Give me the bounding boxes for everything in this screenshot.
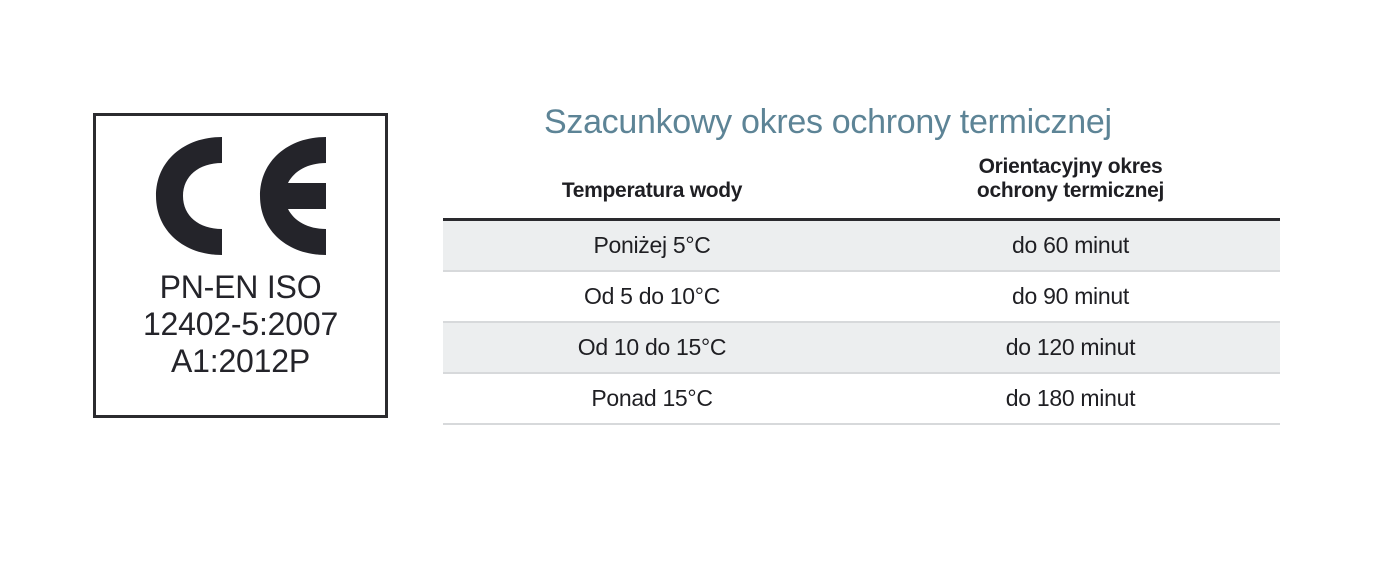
column-header-protection-period: Orientacyjny okres ochrony termicznej <box>861 149 1280 219</box>
ce-standard-reference: PN-EN ISO 12402-5:2007 A1:2012P <box>143 269 338 380</box>
cell-protection-period: do 60 minut <box>861 219 1280 271</box>
table-header-row: Temperatura wody Orientacyjny okres ochr… <box>443 149 1280 219</box>
ce-mark-icon <box>150 137 332 255</box>
table-row: Od 10 do 15°C do 120 minut <box>443 322 1280 373</box>
ce-standard-line-3: A1:2012P <box>143 343 338 380</box>
cell-water-temperature: Poniżej 5°C <box>443 219 861 271</box>
table-row: Od 5 do 10°C do 90 minut <box>443 271 1280 322</box>
ce-certification-mark-box: PN-EN ISO 12402-5:2007 A1:2012P <box>93 113 388 418</box>
thermal-protection-section: Szacunkowy okres ochrony termicznej Temp… <box>443 103 1280 425</box>
table-header: Temperatura wody Orientacyjny okres ochr… <box>443 149 1280 219</box>
cell-water-temperature: Ponad 15°C <box>443 373 861 424</box>
column-header-protection-period-line-2: ochrony termicznej <box>865 179 1276 203</box>
ce-standard-line-2: 12402-5:2007 <box>143 306 338 343</box>
cell-water-temperature: Od 10 do 15°C <box>443 322 861 373</box>
column-header-water-temperature-line-1: Temperatura wody <box>447 179 857 203</box>
table-row: Poniżej 5°C do 60 minut <box>443 219 1280 271</box>
cell-water-temperature: Od 5 do 10°C <box>443 271 861 322</box>
column-header-protection-period-line-1: Orientacyjny okres <box>865 155 1276 179</box>
cell-protection-period: do 180 minut <box>861 373 1280 424</box>
table-title: Szacunkowy okres ochrony termicznej <box>443 103 1280 141</box>
table-row: Ponad 15°C do 180 minut <box>443 373 1280 424</box>
cell-protection-period: do 90 minut <box>861 271 1280 322</box>
cell-protection-period: do 120 minut <box>861 322 1280 373</box>
column-header-water-temperature: Temperatura wody <box>443 149 861 219</box>
table-body: Poniżej 5°C do 60 minut Od 5 do 10°C do … <box>443 219 1280 424</box>
thermal-protection-table: Temperatura wody Orientacyjny okres ochr… <box>443 149 1280 425</box>
ce-standard-line-1: PN-EN ISO <box>143 269 338 306</box>
